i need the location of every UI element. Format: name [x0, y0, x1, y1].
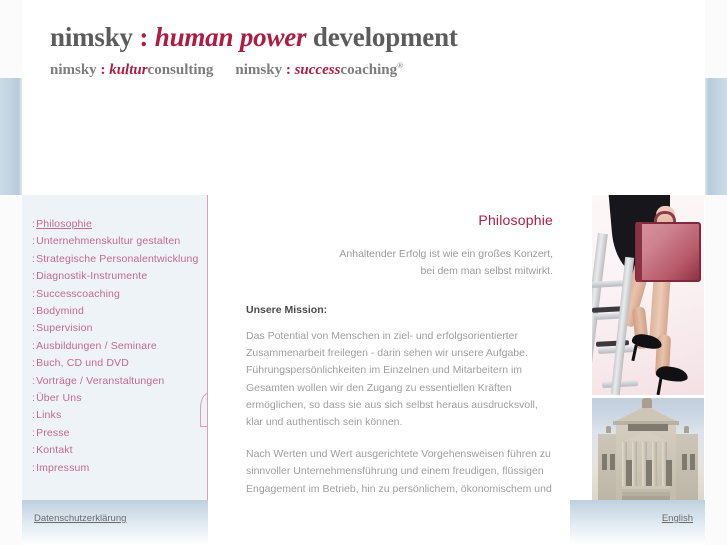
sidebar-item-supervision[interactable]: :Supervision: [32, 320, 207, 337]
logo-word-coaching: coaching: [340, 62, 397, 78]
footer-right-panel: English: [570, 500, 705, 545]
photo-businesswoman-ladder: [592, 195, 704, 395]
logo-b-word-nimsky: nimsky: [50, 62, 97, 78]
registered-trademark-icon: ®: [397, 61, 403, 70]
content-inner: Philosophie Anhaltender Erfolg ist wie e…: [246, 212, 553, 530]
nav-bullet-colon-icon: :: [32, 409, 35, 421]
logo-word-success: success: [295, 62, 341, 78]
building-window: [690, 454, 695, 470]
sidebar: :Philosophie:Unternehmenskultur gestalte…: [22, 195, 207, 500]
logo-word-development: development: [306, 22, 457, 52]
sidebar-item-bodymind[interactable]: :Bodymind: [32, 303, 207, 320]
sidebar-item-vortraege-veranstaltungen[interactable]: :Vorträge / Veranstaltungen: [32, 373, 207, 390]
building-window: [626, 460, 632, 486]
sidebar-item-label: Bodymind: [36, 305, 84, 317]
sidebar-item-diagnostik-instrumente[interactable]: :Diagnostik-Instrumente: [32, 268, 207, 285]
logo-secondary-line: nimsky : kulturconsultingnimsky : succes…: [50, 56, 458, 80]
page-title: Philosophie: [246, 212, 553, 228]
roof-urn: [606, 426, 611, 433]
portico-column: [652, 442, 657, 488]
logo-words-human-power: human power: [155, 22, 307, 52]
site-logo[interactable]: nimsky : human power development nimsky …: [50, 22, 458, 80]
sidebar-item-label: Impressum: [36, 462, 89, 474]
main-content: Philosophie Anhaltender Erfolg ist wie e…: [208, 195, 591, 500]
intro-quote-line-1: Anhaltender Erfolg ist wie ein großes Ko…: [246, 246, 553, 263]
nav-bullet-colon-icon: :: [32, 235, 35, 247]
nav-bullet-colon-icon: :: [32, 392, 35, 404]
sidebar-item-label: Philosophie: [36, 218, 92, 230]
nav-bullet-colon-icon: :: [32, 357, 35, 369]
sidebar-item-label: Links: [36, 409, 61, 421]
portico-column: [632, 442, 637, 488]
sidebar-item-label: Unternehmenskultur gestalten: [36, 235, 180, 247]
nav-bullet-colon-icon: :: [32, 444, 35, 456]
logo-primary-line: nimsky : human power development: [50, 22, 458, 52]
sidebar-item-label: Strategische Personalentwicklung: [36, 253, 198, 265]
building-pediment-lower: [625, 430, 667, 441]
sidebar-item-label: Kontakt: [36, 444, 73, 456]
nav-bullet-colon-icon: :: [32, 427, 35, 439]
logo-word-consulting: consulting: [148, 62, 214, 78]
nav-bullet-colon-icon: :: [32, 305, 35, 317]
logo-colon-1: :: [133, 22, 155, 52]
logo-word-nimsky: nimsky: [50, 22, 133, 52]
building-steps: [622, 486, 670, 500]
right-edge-strip: [705, 78, 727, 195]
image-column: [591, 195, 705, 500]
sidebar-item-label: Successcoaching: [36, 288, 120, 300]
sidebar-item-buch-cd-und-dvd[interactable]: :Buch, CD und DVD: [32, 355, 207, 372]
building-window: [682, 454, 687, 470]
nav-bullet-colon-icon: :: [32, 322, 35, 334]
left-gutter-top: [0, 0, 22, 78]
sidebar-item-philosophie[interactable]: :Philosophie: [32, 216, 207, 233]
privacy-policy-link[interactable]: Datenschutzerklärung: [34, 513, 126, 524]
photo-concert-hall: [592, 398, 704, 500]
nav-bullet-colon-icon: :: [32, 288, 35, 300]
logo-colon-2: :: [97, 62, 110, 78]
sidebar-item-label: Über Uns: [36, 392, 82, 404]
sidebar-nav: :Philosophie:Unternehmenskultur gestalte…: [32, 216, 207, 477]
sidebar-item-strategische-personalentwicklung[interactable]: :Strategische Personalentwicklung: [32, 251, 207, 268]
briefcase: [635, 222, 701, 282]
sidebar-item-ausbildungen-seminare[interactable]: :Ausbildungen / Seminare: [32, 338, 207, 355]
sidebar-item-label: Supervision: [36, 322, 93, 334]
sidebar-item-label: Buch, CD und DVD: [36, 357, 129, 369]
sidebar-item-presse[interactable]: :Presse: [32, 425, 207, 442]
building-window: [610, 454, 615, 470]
nav-bullet-colon-icon: :: [32, 253, 35, 265]
logo-colon-3: :: [282, 62, 295, 78]
building-pediment-upper: [616, 406, 676, 421]
figure-heel-back: [657, 378, 663, 395]
intro-quote-line-2: bei dem man selbst mitwirkt.: [246, 263, 553, 280]
nav-bullet-colon-icon: :: [32, 462, 35, 474]
nav-bullet-colon-icon: :: [32, 270, 35, 282]
ladder-scene-art: [592, 195, 704, 395]
clerestory-windows: [628, 424, 668, 431]
left-edge-strip: [0, 78, 22, 195]
logo-c-word-nimsky: nimsky: [235, 62, 282, 78]
right-gutter-bottom: [705, 195, 727, 545]
roof-statue: [642, 398, 652, 408]
sidebar-item-label: Vorträge / Veranstaltungen: [36, 375, 164, 387]
sidebar-item-unternehmenskultur-gestalten[interactable]: :Unternehmenskultur gestalten: [32, 233, 207, 250]
footer-left-panel: Datenschutzerklärung: [22, 500, 208, 545]
sidebar-item-successcoaching[interactable]: :Successcoaching: [32, 286, 207, 303]
site-footer: Datenschutzerklärung English: [22, 500, 705, 545]
right-gutter-top: [705, 0, 727, 78]
page-root: nimsky : human power development nimsky …: [0, 0, 727, 545]
sidebar-item-links[interactable]: :Links: [32, 407, 207, 424]
briefcase-edge: [636, 222, 642, 282]
sidebar-item-impressum[interactable]: :Impressum: [32, 460, 207, 477]
site-header: nimsky : human power development nimsky …: [22, 0, 705, 195]
body-paragraph-1: Das Potential von Menschen in ziel- und …: [246, 328, 553, 431]
roof-urn: [684, 426, 689, 433]
building-scene-art: [592, 398, 704, 500]
sidebar-item-kontakt[interactable]: :Kontakt: [32, 442, 207, 459]
nav-bullet-colon-icon: :: [32, 340, 35, 352]
nav-bullet-colon-icon: :: [32, 375, 35, 387]
left-gutter-bottom: [0, 195, 22, 545]
building-window: [666, 460, 672, 486]
nav-bullet-colon-icon: :: [32, 218, 35, 230]
intro-quote: Anhaltender Erfolg ist wie ein großes Ko…: [246, 246, 553, 280]
content-band: :Philosophie:Unternehmenskultur gestalte…: [22, 195, 705, 500]
language-switch-link[interactable]: English: [662, 513, 693, 524]
mission-heading: Unsere Mission:: [246, 302, 553, 318]
sidebar-item-ueber-uns[interactable]: :Über Uns: [32, 390, 207, 407]
building-window: [646, 460, 652, 486]
building-window: [602, 454, 607, 470]
logo-word-kultur: kultur: [109, 62, 147, 78]
sidebar-item-label: Diagnostik-Instrumente: [36, 270, 147, 282]
sidebar-item-label: Presse: [36, 427, 70, 439]
sidebar-item-label: Ausbildungen / Seminare: [36, 340, 157, 352]
